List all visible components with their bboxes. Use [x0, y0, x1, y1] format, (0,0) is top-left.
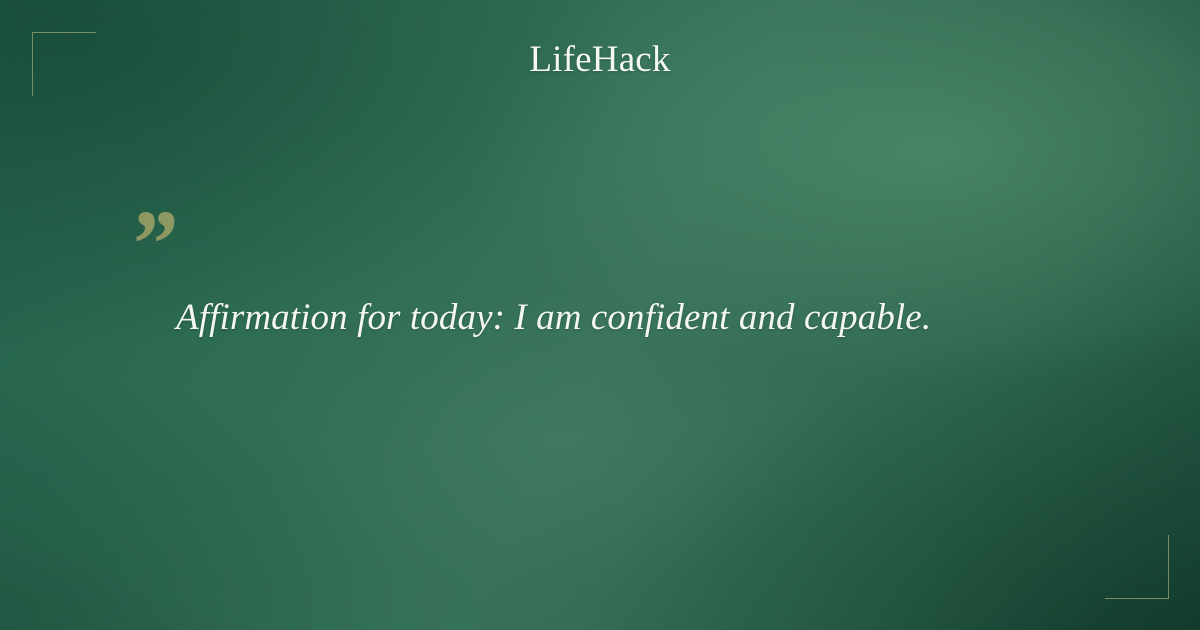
brand-wordmark: LifeHack: [0, 36, 1200, 84]
affirmation-quote-text: Affirmation for today: I am confident an…: [176, 292, 1056, 344]
quote-mark-icon: ”: [128, 196, 174, 292]
quote-card: LifeHack ” Affirmation for today: I am c…: [0, 0, 1200, 630]
